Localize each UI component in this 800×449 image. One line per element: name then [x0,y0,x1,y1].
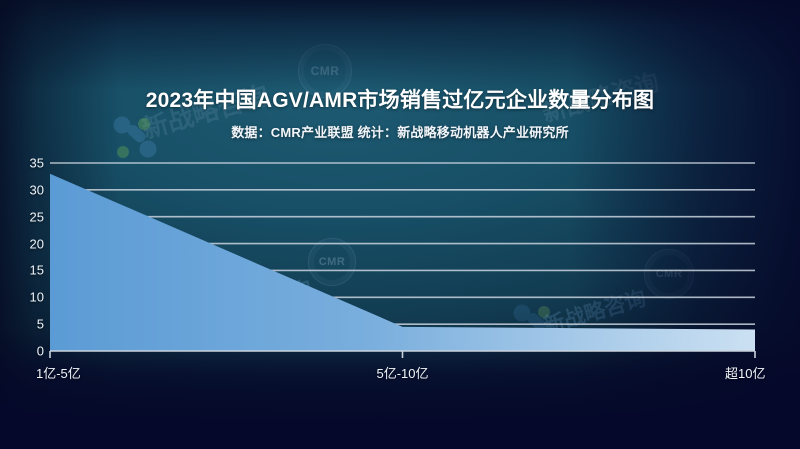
y-axis-tick-label: 5 [0,317,44,332]
y-axis-tick-label: 20 [0,236,44,251]
y-axis-tick-label: 25 [0,209,44,224]
chart-subtitle: 数据：CMR产业联盟 统计：新战略移动机器人产业研究所 [0,122,800,141]
chart-screenshot: CMR CMR CMR 新战略咨询 新战略咨询 [0,0,800,449]
chart-header: 2023年中国AGV/AMR市场销售过亿元企业数量分布图 数据：CMR产业联盟 … [0,88,800,141]
x-axis-tick-label: 5亿-10亿 [377,363,429,382]
y-axis-tick-label: 0 [0,344,44,359]
x-axis-tick-label: 1亿-5亿 [36,363,81,382]
x-axis-tick-label: 超10亿 [725,363,765,382]
y-axis-tick-label: 30 [0,182,44,197]
y-axis-tick-label: 10 [0,290,44,305]
x-axis [50,351,755,358]
chart-title: 2023年中国AGV/AMR市场销售过亿元企业数量分布图 [0,88,800,113]
y-axis-tick-label: 35 [0,156,44,171]
y-axis-tick-label: 15 [0,263,44,278]
plot-area: 05101520253035 1亿-5亿5亿-10亿超10亿 [0,0,800,449]
